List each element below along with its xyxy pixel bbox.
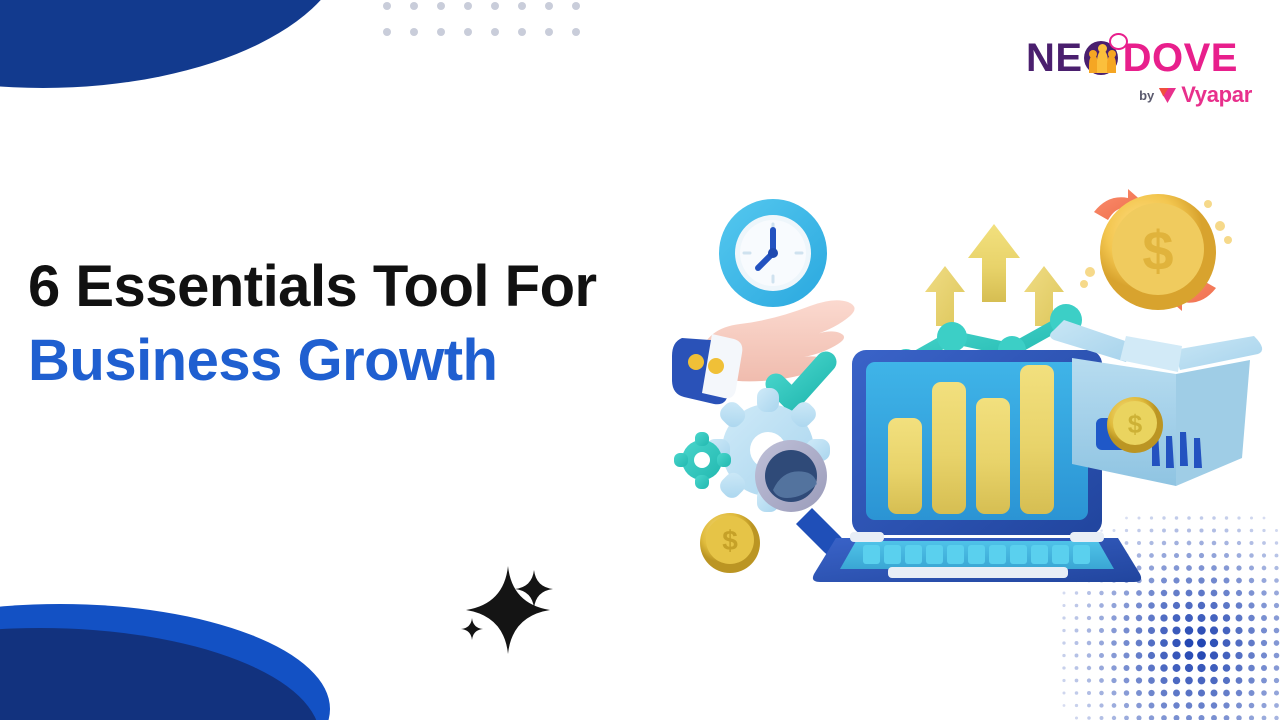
svg-text:$: $ (722, 525, 738, 556)
people-circle-icon (1084, 39, 1122, 77)
logo-vyapar-text: Vyapar (1181, 82, 1252, 108)
logo-neo-text: NE (1026, 38, 1083, 78)
page-title: 6 Essentials Tool For Business Growth (28, 250, 688, 398)
hero-illustration: $ (660, 160, 1270, 610)
headline-line-1: 6 Essentials Tool For (28, 250, 688, 324)
dollar-coin-right-illustration: $ (1107, 397, 1163, 453)
brand-logo[interactable]: NE DOVE by Vyapar (1026, 38, 1252, 104)
logo-by-text: by (1139, 88, 1154, 103)
promo-banner: NE DOVE by Vyapar 6 Essentials Tool For … (0, 0, 1280, 720)
magnifier-illustration (755, 440, 844, 556)
svg-text:$: $ (1128, 409, 1143, 439)
dot-grid-decoration (383, 2, 599, 54)
headline-line-2: Business Growth (28, 324, 688, 398)
dollar-coin-left-illustration: $ (700, 513, 760, 573)
corner-shape-top-left (0, 0, 348, 88)
logo-byline: by Vyapar (1139, 82, 1252, 108)
logo-dove-text: DOVE (1123, 38, 1238, 78)
vyapar-triangle-icon (1158, 87, 1177, 104)
growth-arrows-illustration (925, 224, 1064, 326)
gear-cluster-illustration: $ (674, 388, 844, 573)
sparkle-stars-decoration (452, 556, 582, 666)
svg-text:$: $ (1142, 219, 1173, 282)
logo-wordmark: NE DOVE (1026, 38, 1238, 78)
